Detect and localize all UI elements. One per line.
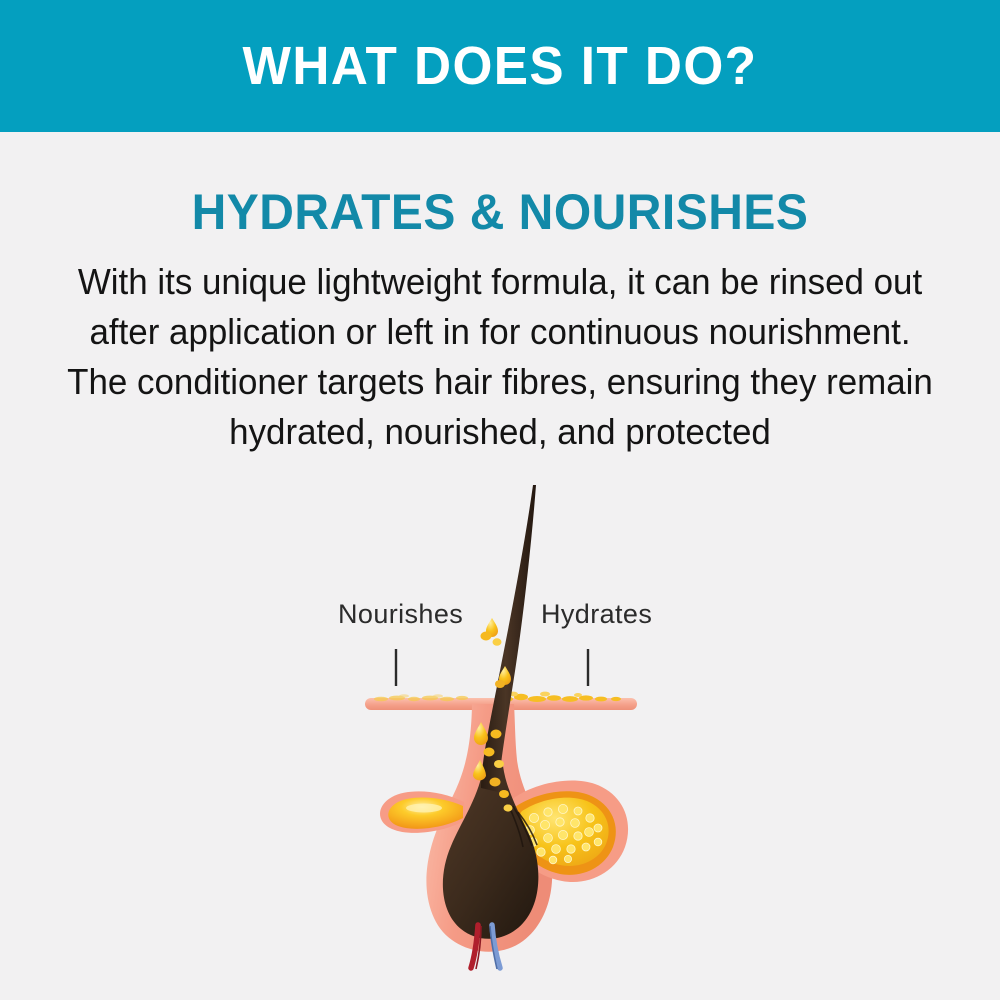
body-line-3: The conditioner targets hair fibres, ens… bbox=[44, 357, 956, 407]
hair-follicle-diagram: Nourishes Hydrates bbox=[0, 470, 1000, 1000]
header-banner: WHAT DOES IT DO? bbox=[0, 0, 1000, 132]
page-title: WHAT DOES IT DO? bbox=[243, 39, 758, 93]
body-line-1: With its unique lightweight formula, it … bbox=[44, 257, 956, 307]
section-heading: HYDRATES & NOURISHES bbox=[20, 186, 980, 239]
body-line-4: hydrated, nourished, and protected bbox=[44, 407, 956, 457]
section-body-copy: With its unique lightweight formula, it … bbox=[44, 257, 956, 457]
label-nourishes: Nourishes bbox=[338, 599, 463, 629]
label-hydrates: Hydrates bbox=[541, 599, 652, 629]
hair-follicle-illustration: Nourishes Hydrates bbox=[0, 470, 1000, 1000]
body-line-2: after application or left in for continu… bbox=[44, 307, 956, 357]
content-section: HYDRATES & NOURISHES With its unique lig… bbox=[0, 132, 1000, 457]
